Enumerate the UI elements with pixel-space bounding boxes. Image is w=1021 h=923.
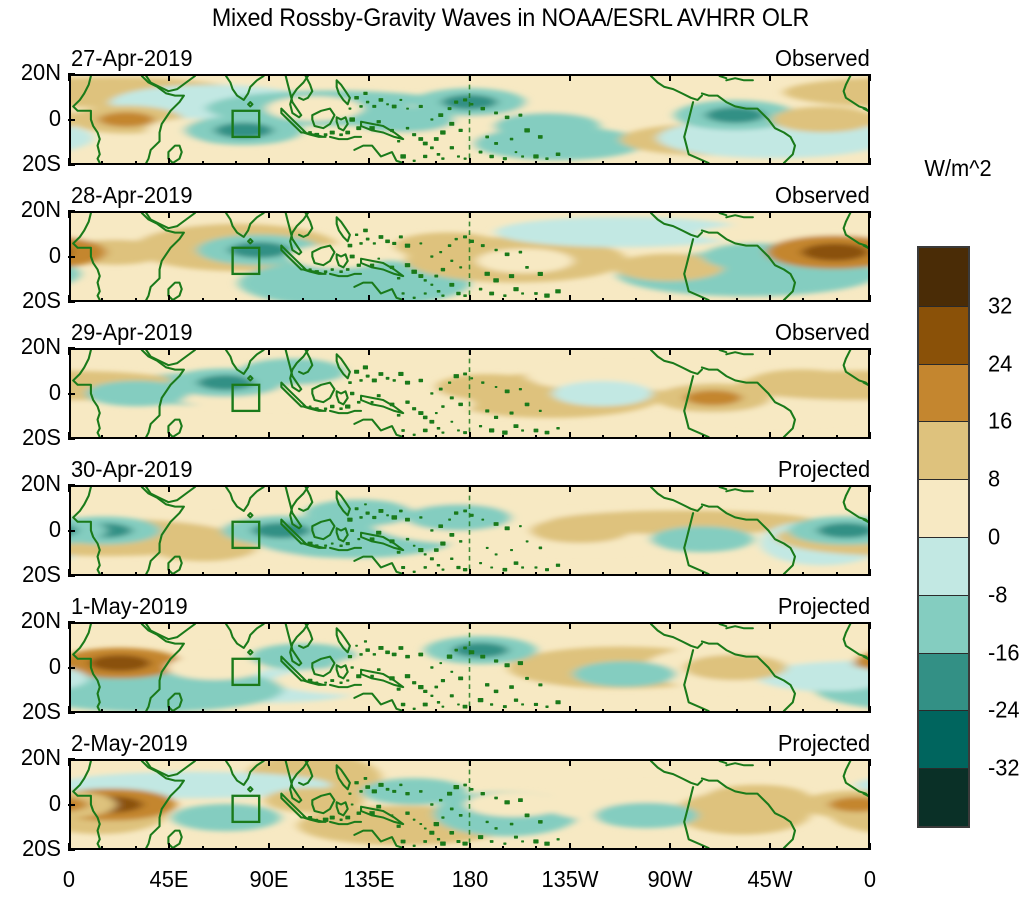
map-frame (69, 211, 870, 302)
y-axis-tick-label: 20N (6, 335, 61, 358)
colorbar-tick-label: 24 (988, 352, 1012, 375)
x-axis-tick (68, 432, 70, 439)
x-axis-minor-tick (101, 846, 103, 850)
x-axis-tick (168, 74, 170, 81)
x-axis-tick (268, 432, 270, 439)
x-axis-minor-tick (502, 572, 504, 576)
x-axis-tick (769, 432, 771, 439)
x-axis-tick (569, 759, 571, 766)
x-axis-minor-tick (101, 298, 103, 302)
x-axis-minor-tick (435, 709, 437, 713)
x-axis-tick (869, 211, 871, 218)
x-axis-minor-tick (101, 572, 103, 576)
figure-root: Mixed Rossby-Gravity Waves in NOAA/ESRL … (0, 0, 1021, 923)
y-axis-tick-label: 20S (6, 700, 61, 723)
x-axis-minor-tick (736, 435, 738, 439)
map-frame (69, 759, 870, 850)
x-axis-tick (869, 158, 871, 165)
x-axis-tick (68, 74, 70, 81)
colorbar-band-divider (919, 653, 968, 654)
y-axis-tick-label: 20S (6, 563, 61, 586)
x-axis-tick (368, 74, 370, 81)
x-axis-tick (168, 211, 170, 218)
x-axis-tick (769, 74, 771, 81)
x-axis-tick (168, 432, 170, 439)
x-axis-tick (669, 759, 671, 766)
x-axis-tick (569, 569, 571, 576)
colorbar-tick-label: -32 (988, 757, 1020, 780)
y-axis-tick (68, 530, 75, 532)
colorbar-units-label: W/m^2 (908, 155, 1009, 181)
x-axis-minor-tick (802, 846, 804, 850)
x-axis-minor-tick (135, 298, 137, 302)
x-axis-tick (569, 158, 571, 165)
map-frame (69, 348, 870, 439)
x-axis-tick (168, 158, 170, 165)
map-frame (69, 74, 870, 165)
x-axis-minor-tick (235, 435, 237, 439)
x-axis-tick (469, 74, 471, 81)
x-axis-minor-tick (535, 709, 537, 713)
colorbar-band-divider (919, 768, 968, 769)
x-axis-minor-tick (235, 709, 237, 713)
y-axis-tick-label: 20S (6, 289, 61, 312)
x-axis-minor-tick (635, 846, 637, 850)
x-axis-tick-label: 0 (864, 866, 876, 892)
y-axis-tick-label: 0 (6, 107, 61, 130)
x-axis-tick (869, 706, 871, 713)
map-frame (69, 622, 870, 713)
x-axis-tick (68, 622, 70, 629)
y-axis-tick-label: 20N (6, 472, 61, 495)
x-axis-minor-tick (402, 846, 404, 850)
colorbar-band (919, 768, 968, 826)
colorbar: W/m^2 32241680-8-16-24-32 (905, 155, 1021, 855)
x-axis-minor-tick (402, 161, 404, 165)
x-axis-minor-tick (202, 709, 204, 713)
x-axis-minor-tick (602, 435, 604, 439)
x-axis-tick (68, 348, 70, 355)
x-axis-minor-tick (736, 572, 738, 576)
anomaly-map (71, 213, 868, 300)
x-axis-tick (569, 74, 571, 81)
colorbar-band (919, 537, 968, 595)
x-axis-tick (168, 843, 170, 850)
x-axis-tick (669, 74, 671, 81)
x-axis-minor-tick (602, 709, 604, 713)
x-axis-minor-tick (702, 709, 704, 713)
x-axis-minor-tick (202, 572, 204, 576)
y-axis-tick-label: 20N (6, 198, 61, 221)
y-axis-tick-label: 20S (6, 426, 61, 449)
x-axis-minor-tick (335, 161, 337, 165)
colorbar-band-divider (919, 537, 968, 538)
x-axis-minor-tick (135, 435, 137, 439)
x-axis-tick-label: 90W (647, 866, 692, 892)
x-axis-tick (669, 569, 671, 576)
x-axis-tick (268, 759, 270, 766)
panel-status-label: Observed (775, 182, 870, 208)
x-axis-tick (569, 295, 571, 302)
x-axis-minor-tick (302, 161, 304, 165)
panel-date-label: 29-Apr-2019 (71, 319, 192, 345)
x-axis-tick (569, 622, 571, 629)
x-axis-tick (769, 622, 771, 629)
x-axis-tick (869, 295, 871, 302)
x-axis-tick (68, 843, 70, 850)
panel-date-label: 28-Apr-2019 (71, 182, 192, 208)
page-title: Mixed Rossby-Gravity Waves in NOAA/ESRL … (36, 3, 986, 33)
x-axis-tick (769, 295, 771, 302)
x-axis-tick (368, 622, 370, 629)
x-axis-tick (368, 706, 370, 713)
x-axis-tick (168, 569, 170, 576)
map-panel-6: 2-May-2019Projected20N020S (69, 759, 870, 850)
colorbar-tick-label: -16 (988, 641, 1020, 664)
x-axis-minor-tick (535, 161, 537, 165)
x-axis-tick (669, 432, 671, 439)
x-axis-tick (769, 158, 771, 165)
x-axis-minor-tick (702, 298, 704, 302)
x-axis-tick (469, 485, 471, 492)
x-axis-minor-tick (302, 846, 304, 850)
x-axis-minor-tick (335, 435, 337, 439)
x-axis-minor-tick (602, 298, 604, 302)
x-axis-tick (569, 432, 571, 439)
x-axis-tick-label: 45W (747, 866, 792, 892)
x-axis-tick (569, 485, 571, 492)
x-axis-minor-tick (302, 435, 304, 439)
x-axis-tick (769, 706, 771, 713)
colorbar-band (919, 421, 968, 479)
colorbar-band-divider (919, 595, 968, 596)
y-axis-tick-label: 20N (6, 61, 61, 84)
anomaly-map (71, 487, 868, 574)
x-axis-tick (469, 211, 471, 218)
x-axis-minor-tick (535, 572, 537, 576)
colorbar-band (919, 710, 968, 768)
x-axis-tick (669, 158, 671, 165)
x-axis-minor-tick (235, 572, 237, 576)
x-axis-tick (769, 348, 771, 355)
x-axis-minor-tick (135, 846, 137, 850)
x-axis-minor-tick (202, 161, 204, 165)
map-panel-4: 30-Apr-2019Projected20N020S (69, 485, 870, 576)
x-axis-minor-tick (635, 298, 637, 302)
x-axis-tick (869, 569, 871, 576)
x-axis-minor-tick (602, 572, 604, 576)
x-axis-minor-tick (836, 435, 838, 439)
y-axis-tick (68, 256, 75, 258)
panel-status-label: Projected (778, 730, 870, 756)
x-axis-tick (569, 843, 571, 850)
x-axis-minor-tick (736, 846, 738, 850)
x-axis-minor-tick (402, 298, 404, 302)
panel-date-label: 27-Apr-2019 (71, 45, 192, 71)
colorbar-band-divider (919, 421, 968, 422)
x-axis-tick (469, 569, 471, 576)
x-axis-minor-tick (502, 435, 504, 439)
anomaly-map (71, 350, 868, 437)
x-axis-tick (268, 485, 270, 492)
x-axis-minor-tick (802, 709, 804, 713)
x-axis-tick (869, 622, 871, 629)
y-axis-tick-label: 0 (6, 381, 61, 404)
x-axis-minor-tick (335, 298, 337, 302)
x-axis-tick (68, 485, 70, 492)
y-axis-tick (68, 667, 75, 669)
x-axis-minor-tick (802, 161, 804, 165)
x-axis-tick (469, 622, 471, 629)
x-axis-minor-tick (402, 572, 404, 576)
x-axis-minor-tick (836, 298, 838, 302)
map-panel-2: 28-Apr-2019Observed20N020S (69, 211, 870, 302)
x-axis-tick-label: 135E (344, 866, 395, 892)
colorbar-band-divider (919, 479, 968, 480)
x-axis-tick (769, 485, 771, 492)
x-axis-tick (869, 485, 871, 492)
x-axis-tick (368, 843, 370, 850)
x-axis-minor-tick (435, 572, 437, 576)
x-axis-tick (68, 569, 70, 576)
x-axis-minor-tick (435, 161, 437, 165)
x-axis-tick (769, 211, 771, 218)
x-axis-tick (368, 569, 370, 576)
x-axis-tick-label: 135W (541, 866, 598, 892)
x-axis-minor-tick (702, 846, 704, 850)
x-axis-tick (669, 485, 671, 492)
x-axis-tick (469, 759, 471, 766)
x-axis-minor-tick (736, 298, 738, 302)
x-axis-tick (869, 74, 871, 81)
colorbar-tick-label: -8 (988, 583, 1007, 606)
x-axis: 045E90E135E180135W90W45W0 (69, 866, 870, 906)
x-axis-tick (268, 843, 270, 850)
x-axis-minor-tick (736, 709, 738, 713)
x-axis-minor-tick (202, 435, 204, 439)
panel-status-label: Projected (778, 456, 870, 482)
x-axis-tick (469, 432, 471, 439)
x-axis-tick (268, 158, 270, 165)
x-axis-tick (268, 211, 270, 218)
x-axis-minor-tick (402, 435, 404, 439)
y-axis-tick-label: 0 (6, 792, 61, 815)
x-axis-minor-tick (702, 161, 704, 165)
x-axis-tick (268, 295, 270, 302)
x-axis-minor-tick (802, 435, 804, 439)
y-axis-tick-label: 20N (6, 609, 61, 632)
map-panel-1: 27-Apr-2019Observed20N020S (69, 74, 870, 165)
x-axis-minor-tick (235, 298, 237, 302)
colorbar-band (919, 653, 968, 711)
x-axis-tick (869, 843, 871, 850)
x-axis-tick (569, 706, 571, 713)
x-axis-minor-tick (736, 161, 738, 165)
x-axis-minor-tick (335, 846, 337, 850)
y-axis-tick (68, 119, 75, 121)
x-axis-minor-tick (836, 161, 838, 165)
x-axis-minor-tick (335, 572, 337, 576)
x-axis-minor-tick (836, 709, 838, 713)
x-axis-tick (569, 348, 571, 355)
x-axis-minor-tick (635, 709, 637, 713)
x-axis-tick (869, 759, 871, 766)
x-axis-tick (68, 158, 70, 165)
x-axis-tick (669, 295, 671, 302)
x-axis-minor-tick (135, 572, 137, 576)
x-axis-tick (68, 759, 70, 766)
x-axis-minor-tick (502, 298, 504, 302)
colorbar-band (919, 364, 968, 422)
x-axis-minor-tick (302, 572, 304, 576)
anomaly-map (71, 761, 868, 848)
x-axis-tick (669, 211, 671, 218)
x-axis-tick (469, 348, 471, 355)
x-axis-minor-tick (535, 846, 537, 850)
x-axis-minor-tick (602, 161, 604, 165)
x-axis-tick (469, 843, 471, 850)
x-axis-tick (769, 569, 771, 576)
x-axis-tick (669, 348, 671, 355)
x-axis-minor-tick (502, 161, 504, 165)
panel-status-label: Observed (775, 45, 870, 71)
x-axis-minor-tick (702, 572, 704, 576)
x-axis-tick (469, 706, 471, 713)
x-axis-tick (168, 485, 170, 492)
x-axis-tick (68, 211, 70, 218)
x-axis-minor-tick (235, 161, 237, 165)
colorbar-tick-label: 32 (988, 294, 1012, 317)
x-axis-minor-tick (202, 298, 204, 302)
anomaly-map (71, 624, 868, 711)
x-axis-minor-tick (302, 709, 304, 713)
x-axis-minor-tick (635, 572, 637, 576)
x-axis-tick (68, 295, 70, 302)
x-axis-tick (368, 348, 370, 355)
x-axis-minor-tick (836, 846, 838, 850)
panel-status-label: Projected (778, 593, 870, 619)
panel-date-label: 2-May-2019 (71, 730, 188, 756)
x-axis-tick (569, 211, 571, 218)
x-axis-tick (168, 295, 170, 302)
x-axis-minor-tick (335, 709, 337, 713)
x-axis-tick (268, 706, 270, 713)
x-axis-tick (268, 74, 270, 81)
panel-status-label: Observed (775, 319, 870, 345)
x-axis-minor-tick (535, 435, 537, 439)
x-axis-minor-tick (302, 298, 304, 302)
x-axis-tick (368, 158, 370, 165)
x-axis-minor-tick (235, 846, 237, 850)
x-axis-minor-tick (135, 161, 137, 165)
colorbar-band-divider (919, 710, 968, 711)
x-axis-minor-tick (802, 572, 804, 576)
x-axis-minor-tick (535, 298, 537, 302)
colorbar-tick-label: 0 (988, 526, 1000, 549)
x-axis-minor-tick (435, 846, 437, 850)
anomaly-map (71, 76, 868, 163)
x-axis-minor-tick (635, 435, 637, 439)
x-axis-minor-tick (502, 846, 504, 850)
x-axis-tick (368, 759, 370, 766)
colorbar-band (919, 479, 968, 537)
x-axis-minor-tick (602, 846, 604, 850)
x-axis-tick (469, 295, 471, 302)
x-axis-tick (168, 348, 170, 355)
x-axis-tick (168, 759, 170, 766)
colorbar-tick-label: -24 (988, 699, 1020, 722)
x-axis-tick (368, 432, 370, 439)
x-axis-tick-label: 180 (451, 866, 487, 892)
colorbar-band-divider (919, 306, 968, 307)
panel-date-label: 30-Apr-2019 (71, 456, 192, 482)
x-axis-tick-label: 90E (250, 866, 289, 892)
y-axis-tick (68, 393, 75, 395)
x-axis-minor-tick (101, 161, 103, 165)
x-axis-minor-tick (702, 435, 704, 439)
map-frame (69, 485, 870, 576)
x-axis-minor-tick (635, 161, 637, 165)
x-axis-tick (669, 843, 671, 850)
colorbar-band (919, 595, 968, 653)
x-axis-tick (769, 843, 771, 850)
x-axis-tick (168, 622, 170, 629)
x-axis-minor-tick (402, 709, 404, 713)
y-axis-tick-label: 20S (6, 152, 61, 175)
y-axis-tick-label: 0 (6, 518, 61, 541)
y-axis-tick-label: 0 (6, 655, 61, 678)
x-axis-minor-tick (135, 709, 137, 713)
x-axis-minor-tick (502, 709, 504, 713)
x-axis-minor-tick (202, 846, 204, 850)
y-axis-tick (68, 804, 75, 806)
x-axis-tick (368, 295, 370, 302)
panel-date-label: 1-May-2019 (71, 593, 188, 619)
x-axis-tick (368, 485, 370, 492)
colorbar-band (919, 248, 968, 306)
x-axis-tick (869, 432, 871, 439)
x-axis-tick (869, 348, 871, 355)
y-axis-tick-label: 20N (6, 746, 61, 769)
x-axis-tick (469, 158, 471, 165)
x-axis-minor-tick (101, 435, 103, 439)
x-axis-tick-label: 45E (150, 866, 189, 892)
map-panel-3: 29-Apr-2019Observed20N020S (69, 348, 870, 439)
x-axis-tick (68, 706, 70, 713)
x-axis-tick (268, 348, 270, 355)
x-axis-tick (368, 211, 370, 218)
x-axis-tick (268, 622, 270, 629)
x-axis-tick (168, 706, 170, 713)
y-axis-tick-label: 20S (6, 837, 61, 860)
x-axis-tick (669, 622, 671, 629)
x-axis-tick-label: 0 (63, 866, 75, 892)
x-axis-minor-tick (435, 298, 437, 302)
colorbar-bands: 32241680-8-16-24-32 (917, 246, 970, 828)
x-axis-minor-tick (836, 572, 838, 576)
x-axis-minor-tick (802, 298, 804, 302)
x-axis-minor-tick (435, 435, 437, 439)
map-panel-5: 1-May-2019Projected20N020S (69, 622, 870, 713)
x-axis-tick (769, 759, 771, 766)
x-axis-tick (669, 706, 671, 713)
x-axis-tick (268, 569, 270, 576)
colorbar-tick-label: 8 (988, 468, 1000, 491)
colorbar-band (919, 306, 968, 364)
colorbar-band-divider (919, 364, 968, 365)
colorbar-tick-label: 16 (988, 410, 1012, 433)
y-axis-tick-label: 0 (6, 244, 61, 267)
